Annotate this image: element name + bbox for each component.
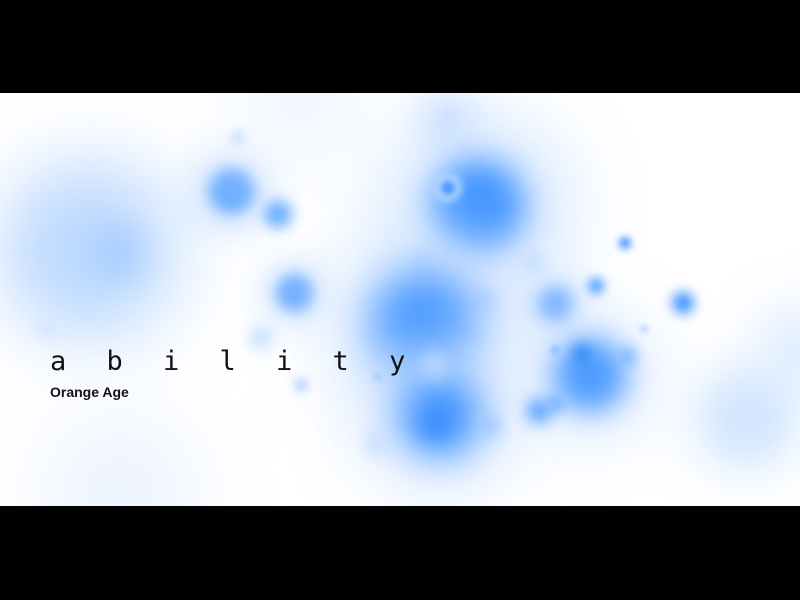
bokeh-circle-dot-right-of-center: [523, 253, 543, 273]
title-block: a b i l i t y Orange Age: [50, 348, 417, 399]
bokeh-circle-dot-left-tiny: [38, 320, 56, 338]
bokeh-circle-dot-right-lower-dark: [573, 345, 591, 363]
bokeh-circle-dot-above-lower-blob: [421, 353, 447, 379]
bokeh-circle-dot-lower-left-pale: [365, 431, 389, 455]
content-band: a b i l i t y Orange Age: [0, 93, 800, 506]
bokeh-circle-dot-right-lower-side: [620, 348, 636, 364]
bokeh-circle-disc-bottom-pair-b: [548, 396, 564, 412]
page-title: a b i l i t y: [50, 348, 417, 375]
bokeh-layer: [0, 93, 800, 506]
bokeh-circle-disc-mid-left-small: [264, 200, 292, 228]
bokeh-circle-dot-lower-right-pale: [478, 415, 500, 437]
bokeh-circle-dot-lower-center-dark: [423, 414, 447, 438]
bokeh-circle-dot-right-lower-left: [551, 346, 559, 354]
title-card-stage: a b i l i t y Orange Age: [0, 0, 800, 600]
letterbox-bar-bottom: [0, 506, 800, 600]
subtitle: Orange Age: [50, 385, 417, 399]
bokeh-circle-dot-right-speck: [640, 325, 648, 333]
letterbox-bar-top: [0, 0, 800, 93]
bokeh-circle-blob-left-halo: [0, 155, 187, 345]
bokeh-circle-disc-upper-left-halo: [194, 153, 270, 229]
bokeh-circle-ring-bokeh-left-core: [441, 181, 455, 195]
bokeh-circle-dot-right-tiny-1: [619, 237, 631, 249]
bokeh-circle-disc-right-small: [672, 292, 694, 314]
bokeh-circle-wash-bottom-left: [40, 413, 200, 506]
bokeh-circle-disc-mid-left-2-halo: [263, 261, 327, 325]
bokeh-circle-dot-right-tiny-2: [588, 278, 604, 294]
